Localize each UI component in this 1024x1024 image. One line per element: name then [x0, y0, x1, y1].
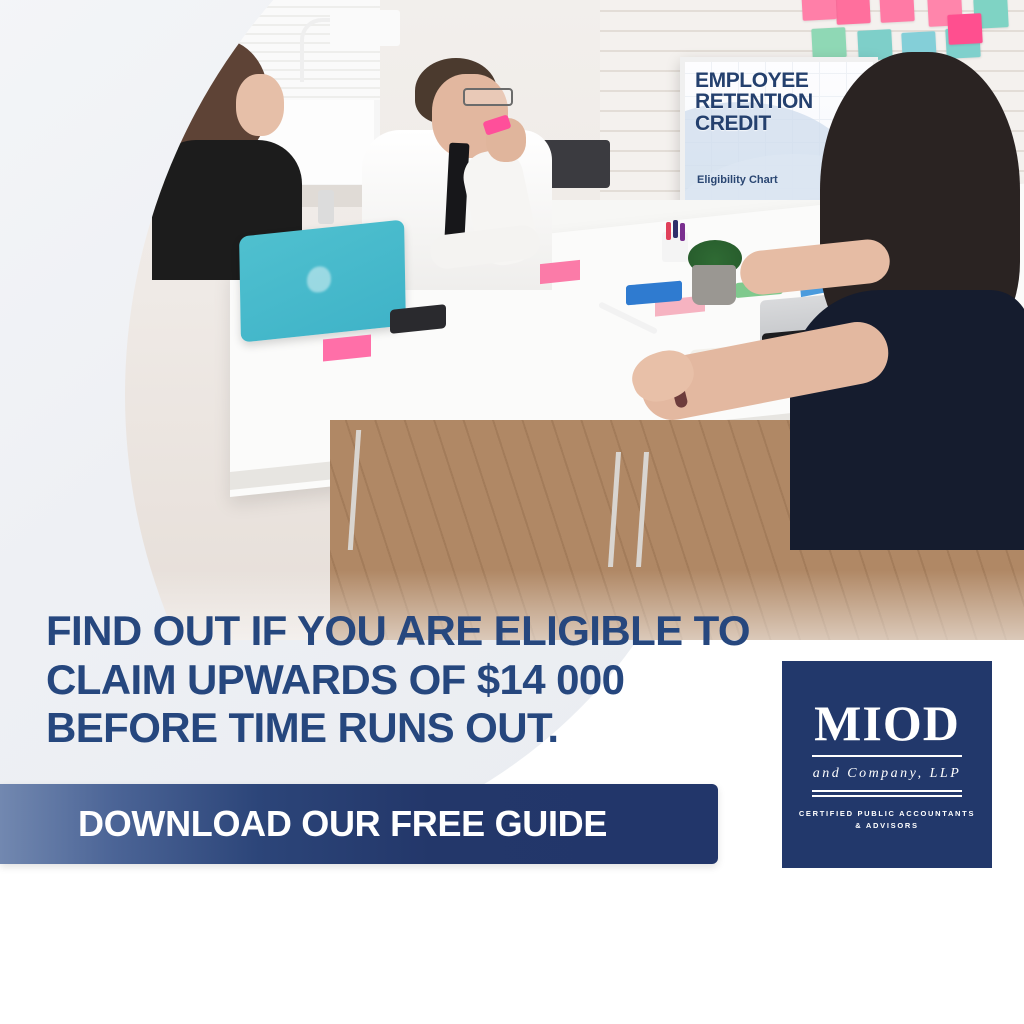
logo-rule-bottom — [812, 795, 962, 797]
logo-wordmark: MIOD — [814, 698, 960, 748]
desk-lamp-shade — [330, 10, 400, 46]
screen-title-line-1: EMPLOYEE — [695, 70, 867, 91]
logo-tagline-line-2: & ADVISORS — [799, 820, 975, 831]
logo-subtitle: and Company, LLP — [813, 766, 962, 782]
sticky-note — [879, 0, 915, 23]
logo-tagline: CERTIFIED PUBLIC ACCOUNTANTS & ADVISORS — [799, 808, 975, 831]
headline-line-2: CLAIM UPWARDS OF $14 000 — [46, 656, 766, 705]
sticky-note-on-table — [540, 260, 580, 284]
logo-rule-top — [812, 755, 962, 757]
pen — [666, 222, 671, 240]
download-guide-label: DOWNLOAD OUR FREE GUIDE — [78, 803, 607, 845]
sticky-note — [811, 27, 847, 59]
headline-line-3: BEFORE TIME RUNS OUT. — [46, 704, 766, 753]
screen-subtitle: Eligibility Chart — [697, 174, 778, 186]
sticky-note — [947, 13, 983, 45]
download-guide-button[interactable]: DOWNLOAD OUR FREE GUIDE — [0, 784, 718, 864]
plant-pot — [692, 265, 736, 305]
miod-logo[interactable]: MIOD and Company, LLP CERTIFIED PUBLIC A… — [782, 661, 992, 868]
sticky-note — [835, 0, 871, 25]
hero-photo: EMPLOYEE RETENTION CREDIT Eligibility Ch… — [125, 0, 1024, 640]
logo-tagline-line-1: CERTIFIED PUBLIC ACCOUNTANTS — [799, 808, 975, 819]
logo-rule-middle — [812, 790, 962, 792]
headline: FIND OUT IF YOU ARE ELIGIBLE TO CLAIM UP… — [46, 607, 766, 753]
pen — [680, 223, 685, 241]
sticky-note — [801, 0, 837, 21]
pen — [673, 220, 678, 238]
apple-logo-icon — [307, 265, 331, 293]
headline-line-1: FIND OUT IF YOU ARE ELIGIBLE TO — [46, 607, 766, 656]
drink-can — [318, 190, 334, 224]
person-man-glasses — [463, 88, 513, 106]
teal-laptop — [239, 219, 406, 342]
ad-creative: EMPLOYEE RETENTION CREDIT Eligibility Ch… — [0, 0, 1024, 1024]
person-woman-bun-face — [236, 74, 284, 136]
